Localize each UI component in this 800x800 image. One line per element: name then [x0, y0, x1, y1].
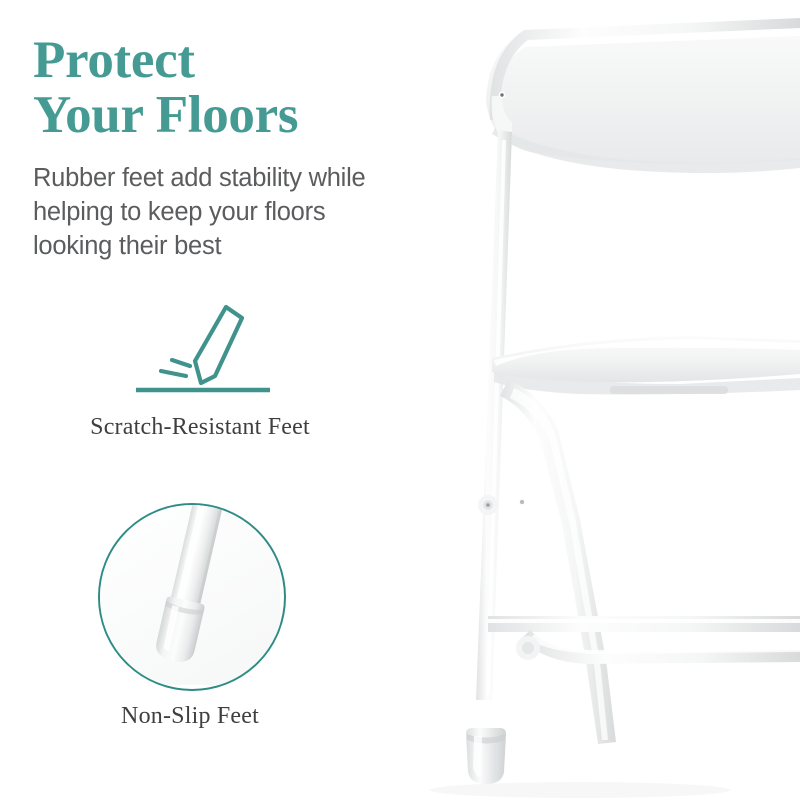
feature-caption-scratch-resistant: Scratch-Resistant Feet: [0, 414, 400, 441]
feature-caption-non-slip: Non-Slip Feet: [0, 703, 380, 730]
page-title: Protect Your Floors: [33, 33, 433, 142]
non-slip-foot-photo: [100, 505, 284, 689]
subheading-text: Rubber feet add stability while helping …: [33, 162, 423, 264]
seat-bracket-tab: [610, 386, 728, 394]
floor-shadow: [430, 782, 730, 798]
impact-line-lower: [161, 371, 186, 376]
backrest-rivet: [500, 93, 503, 96]
rear-foot-rubber-cap: [466, 728, 506, 784]
chair-backrest: [486, 18, 800, 173]
product-feature-graphic: Protect Your Floors Rubber feet add stab…: [0, 0, 800, 800]
impact-line-upper: [172, 360, 190, 366]
product-photo-folding-chair: [430, 0, 800, 800]
leg-shape-path: [195, 307, 242, 383]
chair-leg-scratch-icon: [128, 300, 278, 400]
non-slip-foot-inset: [98, 503, 286, 691]
